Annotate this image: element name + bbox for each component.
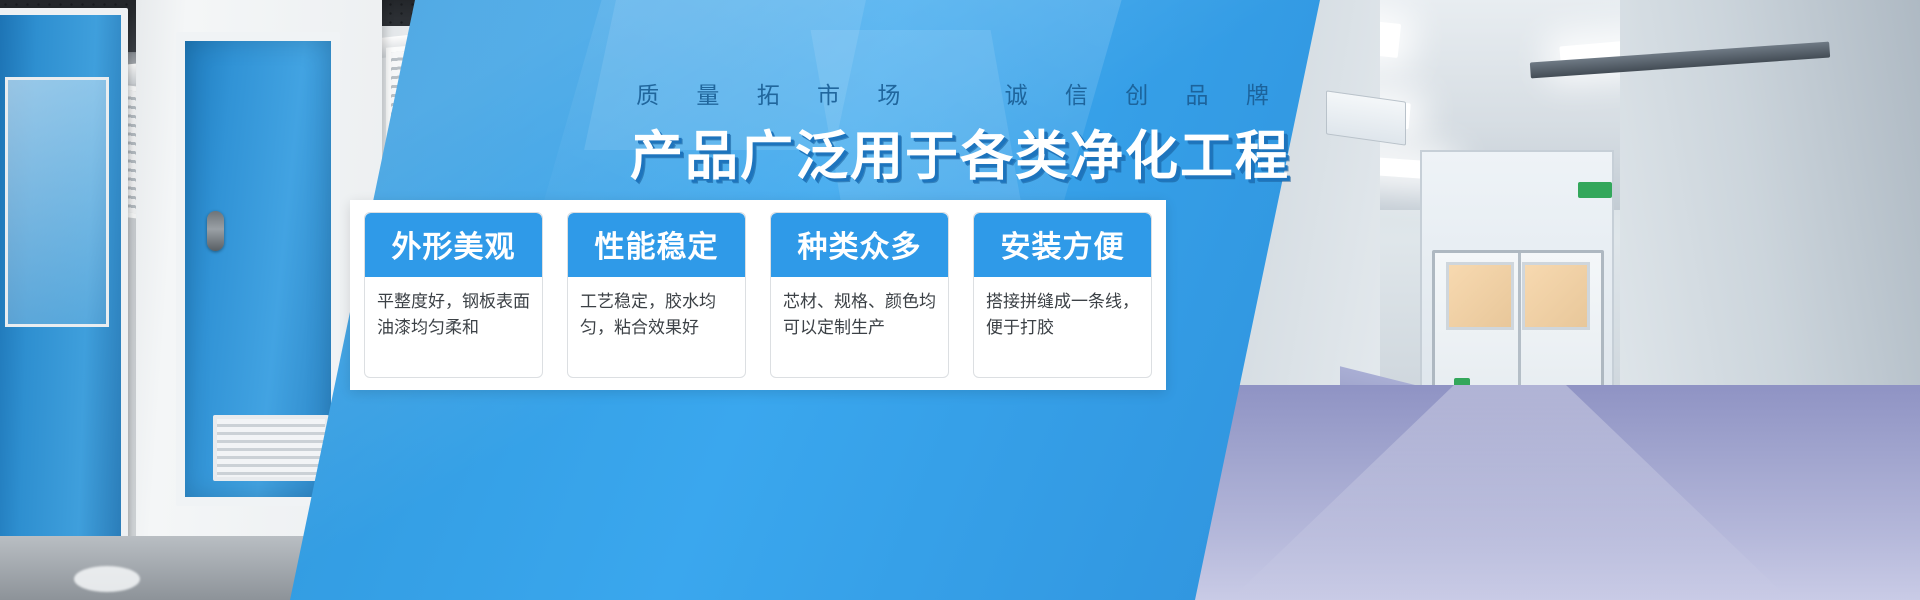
feature-card-title: 种类众多 — [771, 213, 948, 277]
feature-card[interactable]: 安装方便 搭接拼缝成一条线，便于打胶 — [973, 212, 1152, 378]
feature-card-title: 性能稳定 — [568, 213, 745, 277]
door-window-left — [1446, 262, 1514, 330]
feature-card[interactable]: 性能稳定 工艺稳定，胶水均匀，粘合效果好 — [567, 212, 746, 378]
ground-debris — [74, 566, 140, 592]
feature-card-body: 芯材、规格、颜色均可以定制生产 — [771, 277, 948, 377]
promo-banner: 质 量 拓 市 场 诚 信 创 品 牌 产品广泛用于各类净化工程 外形美观 平整… — [0, 0, 1920, 600]
feature-card[interactable]: 外形美观 平整度好，钢板表面油漆均匀柔和 — [364, 212, 543, 378]
feature-card[interactable]: 种类众多 芯材、规格、颜色均可以定制生产 — [770, 212, 949, 378]
banner-subtitle: 质 量 拓 市 场 诚 信 创 品 牌 — [0, 76, 1920, 110]
feature-card-body: 平整度好，钢板表面油漆均匀柔和 — [365, 277, 542, 377]
door-louver-vent — [213, 415, 329, 481]
feature-card-panel: 外形美观 平整度好，钢板表面油漆均匀柔和 性能稳定 工艺稳定，胶水均匀，粘合效果… — [350, 200, 1166, 390]
door-window-right — [1522, 262, 1590, 330]
feature-card-body: 工艺稳定，胶水均匀，粘合效果好 — [568, 277, 745, 377]
feature-card-body: 搭接拼缝成一条线，便于打胶 — [974, 277, 1151, 377]
door-handle-icon — [207, 211, 224, 251]
feature-card-title: 外形美观 — [365, 213, 542, 277]
feature-card-title: 安装方便 — [974, 213, 1151, 277]
banner-headline: 产品广泛用于各类净化工程 — [0, 114, 1920, 190]
